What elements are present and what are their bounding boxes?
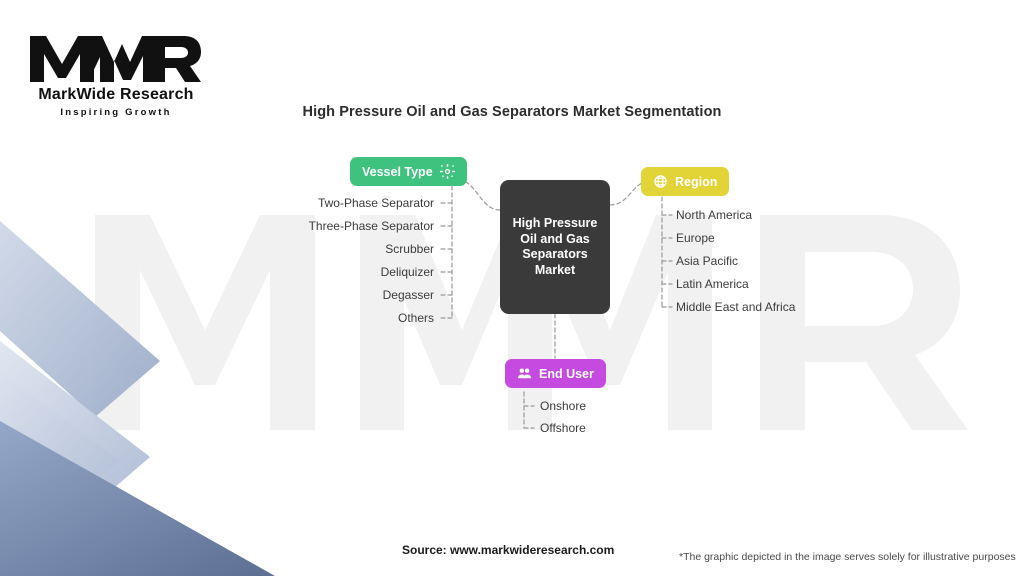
- branch-pill-end-user[interactable]: End User: [505, 359, 606, 388]
- leaf-vessel-type-3: Deliquizer: [200, 265, 434, 279]
- leaf-region-0: North America: [676, 208, 752, 222]
- branch-label-region: Region: [675, 175, 717, 189]
- leaf-vessel-type-1: Three-Phase Separator: [200, 219, 434, 233]
- center-node-label: High Pressure Oil and Gas Separators Mar…: [508, 216, 602, 278]
- leaf-region-4: Middle East and Africa: [676, 300, 795, 314]
- leaf-end-user-1: Offshore: [540, 421, 586, 435]
- leaf-region-1: Europe: [676, 231, 715, 245]
- branch-label-vessel-type: Vessel Type: [362, 165, 433, 179]
- globe-icon: [653, 174, 668, 189]
- segmentation-diagram: High Pressure Oil and Gas Separators Mar…: [0, 0, 1024, 576]
- people-icon: [517, 366, 532, 381]
- leaf-vessel-type-0: Two-Phase Separator: [200, 196, 434, 210]
- branch-pill-region[interactable]: Region: [641, 167, 729, 196]
- center-node: High Pressure Oil and Gas Separators Mar…: [500, 180, 610, 314]
- leaf-end-user-0: Onshore: [540, 399, 586, 413]
- leaf-vessel-type-2: Scrubber: [200, 242, 434, 256]
- disclaimer-text: *The graphic depicted in the image serve…: [679, 551, 1016, 563]
- branch-label-end-user: End User: [539, 367, 594, 381]
- leaf-region-2: Asia Pacific: [676, 254, 738, 268]
- leaf-vessel-type-5: Others: [200, 311, 434, 325]
- leaf-region-3: Latin America: [676, 277, 749, 291]
- settings-icon: [440, 164, 455, 179]
- leaf-vessel-type-4: Degasser: [200, 288, 434, 302]
- branch-pill-vessel-type[interactable]: Vessel Type: [350, 157, 467, 186]
- source-text: Source: www.markwideresearch.com: [402, 543, 614, 557]
